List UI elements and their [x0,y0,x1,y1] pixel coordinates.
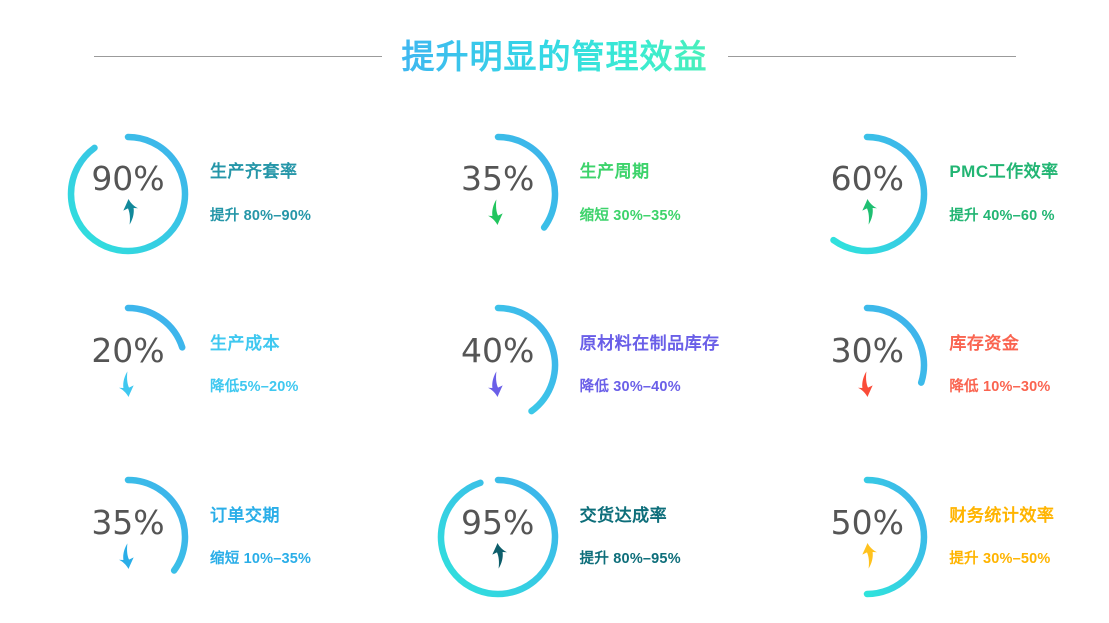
metric-subtitle: 提升 80%–95% [580,551,681,568]
metric-title: 库存资金 [949,334,1050,354]
gauge-value: 35% [91,506,164,539]
metric-labels: PMC工作效率 提升 40%–60 % [949,162,1058,225]
gauge-value: 35% [461,162,534,195]
gauge-value: 20% [91,334,164,367]
gauge-center: 60% [801,128,933,260]
gauge-value: 40% [461,334,534,367]
gauge-ring: 30% [801,299,933,431]
header-rule-right [728,56,1016,57]
metric-title: 生产齐套率 [210,162,311,182]
gauge-center: 30% [801,299,933,431]
metric-card: 95% 交货达成率 提升 80%–95% [370,451,740,623]
arrow-up-icon [857,199,878,225]
gauge-ring: 90% [62,128,194,260]
metric-labels: 生产成本 降低5%–20% [210,334,299,397]
gauge-center: 50% [801,471,933,603]
metric-title: 交货达成率 [580,506,681,526]
metric-labels: 生产齐套率 提升 80%–90% [210,162,311,225]
metric-subtitle: 提升 40%–60 % [949,208,1058,225]
metric-labels: 交货达成率 提升 80%–95% [580,506,681,569]
gauge-value: 50% [831,506,904,539]
metric-subtitle: 缩短 30%–35% [580,208,681,225]
gauge-ring: 95% [432,471,564,603]
metric-card: 40% 原材料在制品库存 降低 30%–40% [370,280,740,452]
metric-labels: 订单交期 缩短 10%–35% [210,506,311,569]
arrow-up-icon [118,199,139,225]
arrow-down-icon-svg [118,543,139,569]
gauge-center: 35% [62,471,194,603]
metric-labels: 财务统计效率 提升 30%–50% [949,506,1054,569]
arrow-up-icon-svg [857,199,878,225]
gauge-center: 95% [432,471,564,603]
gauge-ring: 50% [801,471,933,603]
metric-title: 生产成本 [210,334,299,354]
metric-subtitle: 降低 10%–30% [949,379,1050,396]
metric-card: 50% 财务统计效率 提升 30%–50% [739,451,1109,623]
metric-title: 原材料在制品库存 [580,334,720,354]
metric-subtitle: 提升 30%–50% [949,551,1054,568]
gauge-ring: 35% [432,128,564,260]
metrics-grid: 90% 生产齐套率 提升 80%–90% [0,108,1109,623]
arrow-down-icon [118,543,139,569]
metric-subtitle: 缩短 10%–35% [210,551,311,568]
metric-subtitle: 降低5%–20% [210,379,299,396]
arrow-up-icon-svg [487,543,508,569]
gauge-value: 95% [461,506,534,539]
metric-title: PMC工作效率 [949,162,1058,182]
metric-title: 生产周期 [580,162,681,182]
metric-subtitle: 提升 80%–90% [210,208,311,225]
metric-card: 20% 生产成本 降低5%–20% [0,280,370,452]
arrow-down-icon-svg [118,371,139,397]
metric-labels: 原材料在制品库存 降低 30%–40% [580,334,720,397]
gauge-ring: 60% [801,128,933,260]
arrow-up-icon-svg [857,543,878,569]
gauge-center: 35% [432,128,564,260]
arrow-up-icon [857,543,878,569]
metric-card: 60% PMC工作效率 提升 40%–60 % [739,108,1109,280]
gauge-ring: 35% [62,471,194,603]
gauge-value: 60% [831,162,904,195]
metric-card: 35% 生产周期 缩短 30%–35% [370,108,740,280]
arrow-down-icon-svg [487,371,508,397]
gauge-value: 90% [91,162,164,195]
gauge-center: 90% [62,128,194,260]
page-title: 提升明显的管理效益 [400,38,710,76]
arrow-down-icon-svg [857,371,878,397]
gauge-ring: 20% [62,299,194,431]
metric-title: 订单交期 [210,506,311,526]
arrow-down-icon [487,371,508,397]
gauge-center: 40% [432,299,564,431]
arrow-down-icon [857,371,878,397]
metric-labels: 生产周期 缩短 30%–35% [580,162,681,225]
arrow-down-icon [118,371,139,397]
gauge-center: 20% [62,299,194,431]
metric-card: 30% 库存资金 降低 10%–30% [739,280,1109,452]
gauge-value: 30% [831,334,904,367]
page-header: 提升明显的管理效益 [0,38,1109,76]
metric-card: 35% 订单交期 缩短 10%–35% [0,451,370,623]
gauge-ring: 40% [432,299,564,431]
arrow-down-icon [487,199,508,225]
metric-subtitle: 降低 30%–40% [580,379,720,396]
arrow-up-icon-svg [118,199,139,225]
metric-title: 财务统计效率 [949,506,1054,526]
metric-card: 90% 生产齐套率 提升 80%–90% [0,108,370,280]
header-rule-left [94,56,382,57]
arrow-down-icon-svg [487,199,508,225]
infographic-page: 提升明显的管理效益 90% [0,0,1109,623]
arrow-up-icon [487,543,508,569]
metric-labels: 库存资金 降低 10%–30% [949,334,1050,397]
